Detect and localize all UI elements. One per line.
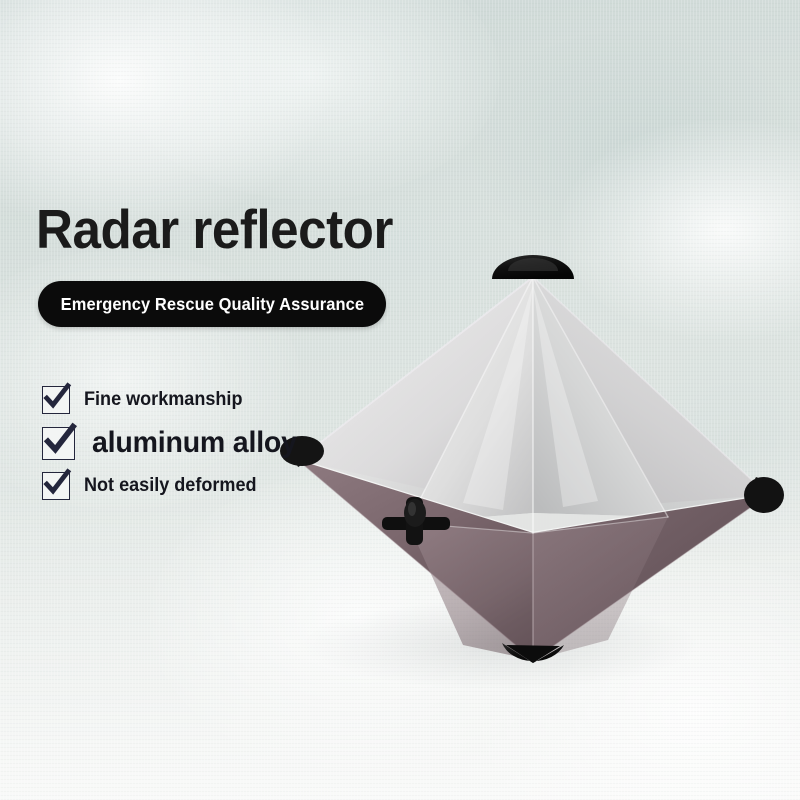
product-banner: Radar reflector Emergency Rescue Quality… xyxy=(0,0,800,800)
status-badge: Emergency Rescue Quality Assurance xyxy=(38,281,386,327)
page-title: Radar reflector xyxy=(36,198,393,260)
feature-label: Not easily deformed xyxy=(84,475,257,497)
feature-item-fine-workmanship: Fine workmanship xyxy=(42,386,342,414)
status-badge-label: Emergency Rescue Quality Assurance xyxy=(60,294,363,315)
reflector-lower-inner-panel xyxy=(408,517,668,660)
vertex-cap-bottom-icon xyxy=(502,643,564,663)
vertex-cap-right-icon xyxy=(744,477,784,513)
feature-label: aluminum alloy xyxy=(92,426,297,460)
checkbox-checked-icon xyxy=(42,386,70,414)
feature-item-not-easily-deformed: Not easily deformed xyxy=(42,472,342,500)
feature-list: Fine workmanship aluminum alloy Not easi… xyxy=(42,386,342,512)
checkbox-checked-icon xyxy=(42,472,70,500)
feature-item-aluminum-alloy: aluminum alloy xyxy=(42,426,342,460)
vertex-cap-top-icon xyxy=(492,255,574,279)
checkbox-checked-icon xyxy=(42,427,75,460)
feature-label: Fine workmanship xyxy=(84,389,242,411)
